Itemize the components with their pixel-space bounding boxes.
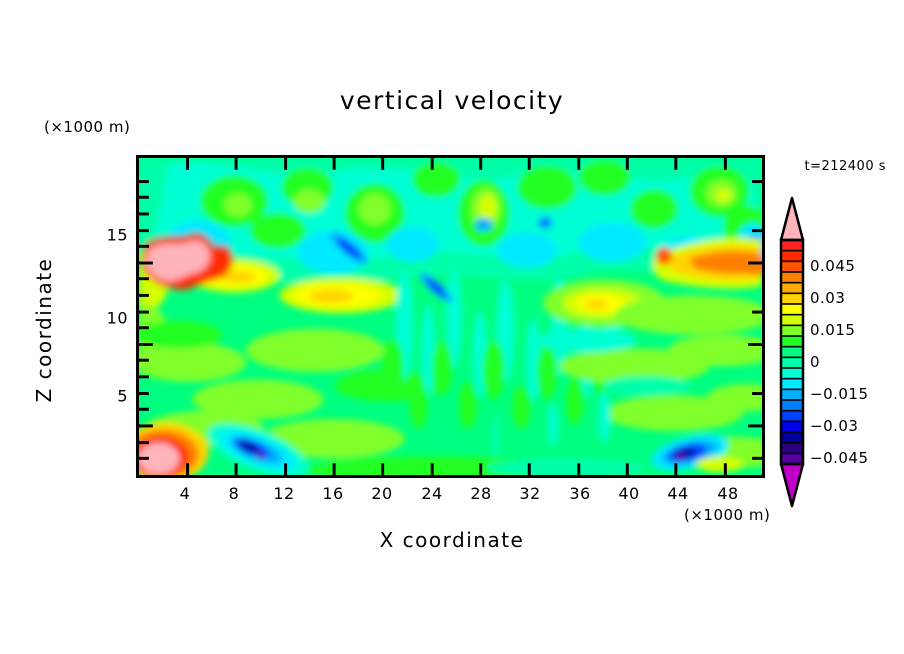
colorbar-band [781, 325, 803, 336]
colorbar-band [781, 357, 803, 368]
colorbar-band [781, 432, 803, 443]
x-tick-label: 24 [421, 484, 442, 503]
x-tick-label: 4 [180, 484, 191, 503]
colorbar-band [781, 443, 803, 454]
colorbar-band [781, 389, 803, 400]
colorbar-band [781, 251, 803, 262]
y-tick-label: 5 [117, 387, 128, 406]
x-tick-label: 20 [371, 484, 392, 503]
colorbar-band [781, 347, 803, 358]
colorbar-band [781, 421, 803, 432]
colorbar-band [781, 293, 803, 304]
x-tick-label: 40 [618, 484, 639, 503]
y-axis-tick-labels: 5 10 15 [88, 0, 128, 654]
x-axis-title: X coordinate [0, 528, 904, 552]
colorbar-band [781, 315, 803, 326]
x-tick-label: 8 [229, 484, 240, 503]
contour-field [139, 158, 762, 475]
x-tick-label: 28 [470, 484, 491, 503]
colorbar-band [781, 400, 803, 411]
colorbar-tick-label: −0.015 [810, 385, 869, 403]
y-axis-title: Z coordinate [32, 220, 56, 440]
colorbar-tick-label: 0.03 [810, 289, 845, 307]
contour-plot-frame [136, 155, 765, 478]
colorbar-band [781, 379, 803, 390]
y-tick-label: 15 [107, 226, 128, 245]
colorbar [779, 196, 805, 508]
colorbar-band [781, 411, 803, 422]
colorbar-band [781, 336, 803, 347]
timestamp-annotation: t=212400 s [804, 159, 886, 174]
colorbar-tick-label: 0 [810, 353, 820, 371]
y-tick-label: 10 [107, 309, 128, 328]
x-tick-label: 16 [322, 484, 343, 503]
x-tick-label: 48 [717, 484, 738, 503]
x-tick-label: 12 [273, 484, 294, 503]
colorbar-tick-label: −0.045 [810, 449, 869, 467]
colorbar-tick-label: −0.03 [810, 417, 858, 435]
x-tick-label: 36 [569, 484, 590, 503]
x-tick-label: 32 [519, 484, 540, 503]
x-axis-unit-label: (×1000 m) [684, 506, 770, 524]
x-tick-label: 44 [667, 484, 688, 503]
colorbar-band [781, 261, 803, 272]
colorbar-band [781, 283, 803, 294]
page-title: vertical velocity [0, 86, 904, 115]
colorbar-band [781, 272, 803, 283]
colorbar-band [781, 304, 803, 315]
colorbar-tick-label: 0.015 [810, 321, 855, 339]
colorbar-band [781, 240, 803, 251]
colorbar-band [781, 368, 803, 379]
colorbar-tick-label: 0.045 [810, 257, 855, 275]
